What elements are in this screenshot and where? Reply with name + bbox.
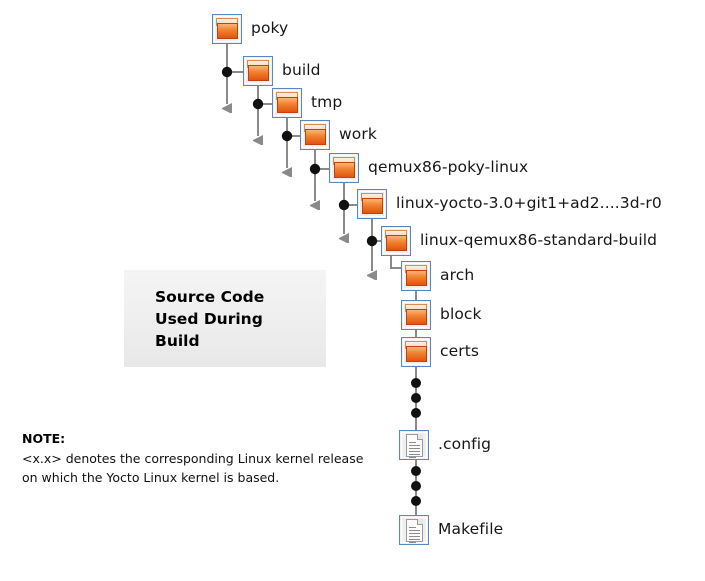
tree-node-config[interactable]: .config — [399, 430, 491, 460]
tree-node-label: certs — [440, 344, 479, 360]
file-icon — [399, 430, 429, 460]
tree-node-label: poky — [251, 21, 288, 37]
folder-icon — [272, 88, 302, 118]
tree-node-poky[interactable]: poky — [212, 14, 288, 44]
folder-icon — [381, 226, 411, 256]
tree-node-linux-yocto[interactable]: linux-yocto-3.0+git1+ad2....3d-r0 — [357, 189, 662, 219]
diagram-canvas: Source Code Used During Build poky build… — [0, 0, 705, 581]
folder-icon — [212, 14, 242, 44]
folder-icon — [329, 153, 359, 183]
tree-node-qemux86-poky-linux[interactable]: qemux86-poky-linux — [329, 153, 528, 183]
tree-node-tmp[interactable]: tmp — [272, 88, 342, 118]
tree-node-label: tmp — [311, 95, 342, 111]
tree-node-linux-qemux86-standard-build[interactable]: linux-qemux86-standard-build — [381, 226, 657, 256]
folder-icon — [401, 300, 431, 330]
tree-node-label: linux-yocto-3.0+git1+ad2....3d-r0 — [396, 196, 662, 212]
tree-node-makefile[interactable]: Makefile — [399, 515, 503, 545]
folder-icon — [357, 189, 387, 219]
tree-node-label: build — [282, 63, 321, 79]
folder-icon — [300, 120, 330, 150]
source-code-callout: Source Code Used During Build — [124, 270, 326, 367]
tree-node-label: work — [339, 127, 377, 143]
tree-node-label: arch — [440, 268, 474, 284]
tree-node-certs[interactable]: certs — [401, 337, 479, 367]
file-icon — [399, 515, 429, 545]
note-body: <x.x> denotes the corresponding Linux ke… — [22, 449, 382, 487]
folder-icon — [401, 337, 431, 367]
tree-node-label: linux-qemux86-standard-build — [420, 233, 657, 249]
tree-node-work[interactable]: work — [300, 120, 377, 150]
tree-node-label: Makefile — [438, 522, 503, 538]
connector-lines — [0, 0, 705, 581]
tree-node-label: block — [440, 307, 482, 323]
folder-icon — [401, 261, 431, 291]
callout-text: Source Code Used During Build — [155, 286, 264, 352]
tree-node-build[interactable]: build — [243, 56, 321, 86]
tree-node-arch[interactable]: arch — [401, 261, 474, 291]
tree-node-block[interactable]: block — [401, 300, 482, 330]
tree-node-label: qemux86-poky-linux — [368, 160, 528, 176]
tree-node-label: .config — [438, 437, 491, 453]
note-block: NOTE: <x.x> denotes the corresponding Li… — [22, 430, 382, 487]
note-title: NOTE: — [22, 430, 382, 449]
folder-icon — [243, 56, 273, 86]
